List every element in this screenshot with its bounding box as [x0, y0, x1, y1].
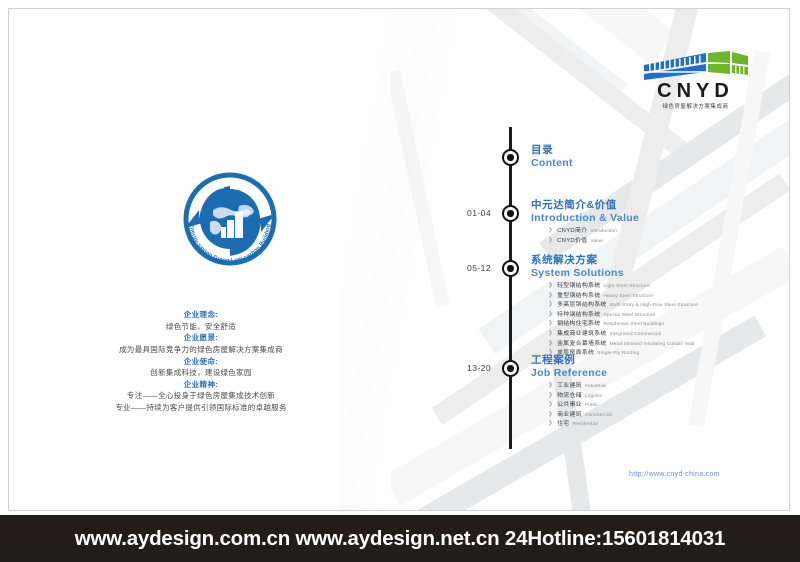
chevron-right-icon: 》: [549, 321, 555, 327]
list-item[interactable]: 》特种钢结构系统Special Steel Structure: [549, 311, 790, 321]
chevron-right-icon: 》: [549, 421, 555, 427]
section-title-en: Job Reference: [531, 367, 781, 380]
subitem-cn: 物流仓储: [557, 393, 582, 399]
section-title-en: System Solutions: [531, 267, 781, 280]
timeline-spine: [509, 127, 512, 449]
right-page: CNYD 绿色房屋解决方案集成商 目录 Content 01-04 中元达简介&…: [391, 9, 790, 511]
section-title-en: Introduction & Value: [531, 212, 781, 225]
website-url[interactable]: http://www.cnyd-china.com: [629, 471, 720, 478]
toc-subitems-system-solutions: 》轻型钢结构系统Light Steel Structure 》重型钢结构系统He…: [549, 282, 790, 359]
timeline-node: [502, 360, 519, 377]
subitem-en: Metal Skinned Insulating Curtain Wall: [610, 342, 695, 347]
cnyd-logo: CNYD 绿色房屋解决方案集成商: [633, 51, 758, 113]
subitem-cn: CNYD价值: [557, 238, 587, 244]
list-item[interactable]: 》工业建筑Industrial: [549, 382, 790, 392]
toc-section-content[interactable]: 目录 Content: [531, 144, 781, 170]
philosophy-heading: 企业使命:: [31, 356, 371, 368]
chevron-right-icon: 》: [549, 238, 555, 244]
subitem-cn: 轻型钢结构系统: [557, 283, 600, 289]
philosophy-heading: 企业理念:: [31, 309, 371, 321]
footer-banner-text: www.aydesign.com.cn www.aydesign.net.cn …: [75, 527, 726, 551]
subitem-cn: 重型钢结构系统: [557, 293, 600, 299]
philosophy-body: 专业——持续为客户提供引领国际标准的卓越服务: [31, 402, 371, 414]
list-item[interactable]: 》钢结构住宅系统Residential Steel Buildings: [549, 320, 790, 330]
section-title-cn: 系统解决方案: [531, 254, 781, 267]
subitem-en: Special Steel Structure: [603, 313, 655, 318]
philosophy-body: 绿色节能、安全舒适: [31, 321, 371, 333]
section-pages-label: 01-04: [435, 208, 491, 218]
subitem-en: Value: [590, 239, 603, 244]
subitem-cn: 钢结构住宅系统: [557, 321, 600, 327]
chevron-right-icon: 》: [549, 228, 555, 234]
list-item[interactable]: 》轻型钢结构系统Light Steel Structure: [549, 282, 790, 292]
cnyd-building-icon: [644, 51, 748, 81]
section-title-cn: 目录: [531, 144, 781, 157]
chevron-right-icon: 》: [549, 402, 555, 408]
toc-section-job-reference[interactable]: 工程案例 Job Reference: [531, 354, 781, 380]
subitem-en: Residential: [572, 422, 597, 427]
subitem-en: Integrated Commercial: [610, 332, 662, 337]
chevron-right-icon: 》: [549, 312, 555, 318]
subitem-cn: CNYD简介: [557, 228, 587, 234]
subitem-en: Industrial: [585, 384, 606, 389]
chevron-right-icon: 》: [549, 302, 555, 308]
chevron-right-icon: 》: [549, 283, 555, 289]
subitem-cn: 特种钢结构系统: [557, 312, 600, 318]
subitem-cn: 商业建筑: [557, 412, 582, 418]
toc-subitems-job-reference: 》工业建筑Industrial 》物流仓储Logistic 》公共事业Publi…: [549, 382, 790, 430]
list-item[interactable]: 》CNYD简介Introduction: [549, 227, 790, 237]
brochure-page: 建筑节能 · 绿色低碳 Energy-saving Green Low-carb…: [8, 8, 790, 511]
energy-saving-emblem: 建筑节能 · 绿色低碳 Energy-saving Green Low-carb…: [177, 166, 283, 272]
section-title-en: Content: [531, 157, 781, 170]
table-of-contents-timeline: 目录 Content 01-04 中元达简介&价值 Introduction &…: [391, 127, 790, 457]
section-pages-label: 05-12: [435, 263, 491, 273]
list-item[interactable]: 》公共事业Public: [549, 401, 790, 411]
subitem-en: Introduction: [590, 229, 617, 234]
chevron-right-icon: 》: [549, 383, 555, 389]
subitem-en: Public: [585, 403, 599, 408]
timeline-node: [502, 260, 519, 277]
subitem-en: Multi-Story & High-Rise Steel Structure: [610, 303, 698, 308]
toc-section-system-solutions[interactable]: 系统解决方案 System Solutions: [531, 254, 781, 280]
chevron-right-icon: 》: [549, 293, 555, 299]
section-title-cn: 中元达简介&价值: [531, 199, 781, 212]
chevron-right-icon: 》: [549, 393, 555, 399]
subitem-en: Residential Steel Buildings: [603, 322, 664, 327]
toc-section-introduction[interactable]: 中元达简介&价值 Introduction & Value: [531, 199, 781, 225]
subitem-en: Heavy Steel Structure: [603, 294, 653, 299]
chevron-right-icon: 》: [549, 341, 555, 347]
section-title-cn: 工程案例: [531, 354, 781, 367]
left-page: 建筑节能 · 绿色低碳 Energy-saving Green Low-carb…: [9, 9, 391, 511]
list-item[interactable]: 》商业建筑Commercial: [549, 411, 790, 421]
subitem-cn: 集成商业建筑系统: [557, 331, 607, 337]
list-item[interactable]: 》CNYD价值Value: [549, 237, 790, 247]
subitem-cn: 住宅: [557, 421, 569, 427]
footer-banner: www.aydesign.com.cn www.aydesign.net.cn …: [0, 515, 800, 562]
subitem-en: Logistic: [585, 394, 602, 399]
list-item[interactable]: 》物流仓储Logistic: [549, 392, 790, 402]
list-item[interactable]: 》集成商业建筑系统Integrated Commercial: [549, 330, 790, 340]
chevron-right-icon: 》: [549, 412, 555, 418]
timeline-node: [502, 205, 519, 222]
subitem-en: Light Steel Structure: [603, 284, 649, 289]
logo-wordmark: CNYD: [633, 81, 758, 101]
subitem-cn: 金属复合幕墙系统: [557, 341, 607, 347]
list-item[interactable]: 》住宅Residential: [549, 420, 790, 430]
philosophy-heading: 企业精神:: [31, 379, 371, 391]
philosophy-body: 创新集成科技，建设绿色家园: [31, 367, 371, 379]
philosophy-body: 专注——全心投身于绿色房屋集成技术创新: [31, 390, 371, 402]
timeline-node: [502, 149, 519, 166]
subitem-cn: 工业建筑: [557, 383, 582, 389]
subitem-cn: 公共事业: [557, 402, 582, 408]
philosophy-heading: 企业愿景:: [31, 332, 371, 344]
subitem-en: Commercial: [585, 413, 612, 418]
list-item[interactable]: 》多高层钢结构系统Multi-Story & High-Rise Steel S…: [549, 301, 790, 311]
list-item[interactable]: 》重型钢结构系统Heavy Steel Structure: [549, 292, 790, 302]
logo-tagline: 绿色房屋解决方案集成商: [633, 102, 758, 110]
philosophy-body: 成为最具国际竞争力的绿色房屋解决方案集成商: [31, 344, 371, 356]
subitem-cn: 多高层钢结构系统: [557, 302, 607, 308]
toc-subitems-introduction: 》CNYD简介Introduction 》CNYD价值Value: [549, 227, 790, 246]
section-pages-label: 13-20: [435, 363, 491, 373]
corporate-philosophy: 企业理念: 绿色节能、安全舒适 企业愿景: 成为最具国际竞争力的绿色房屋解决方案…: [31, 309, 371, 414]
chevron-right-icon: 》: [549, 331, 555, 337]
list-item[interactable]: 》金属复合幕墙系统Metal Skinned Insulating Curtai…: [549, 340, 790, 350]
